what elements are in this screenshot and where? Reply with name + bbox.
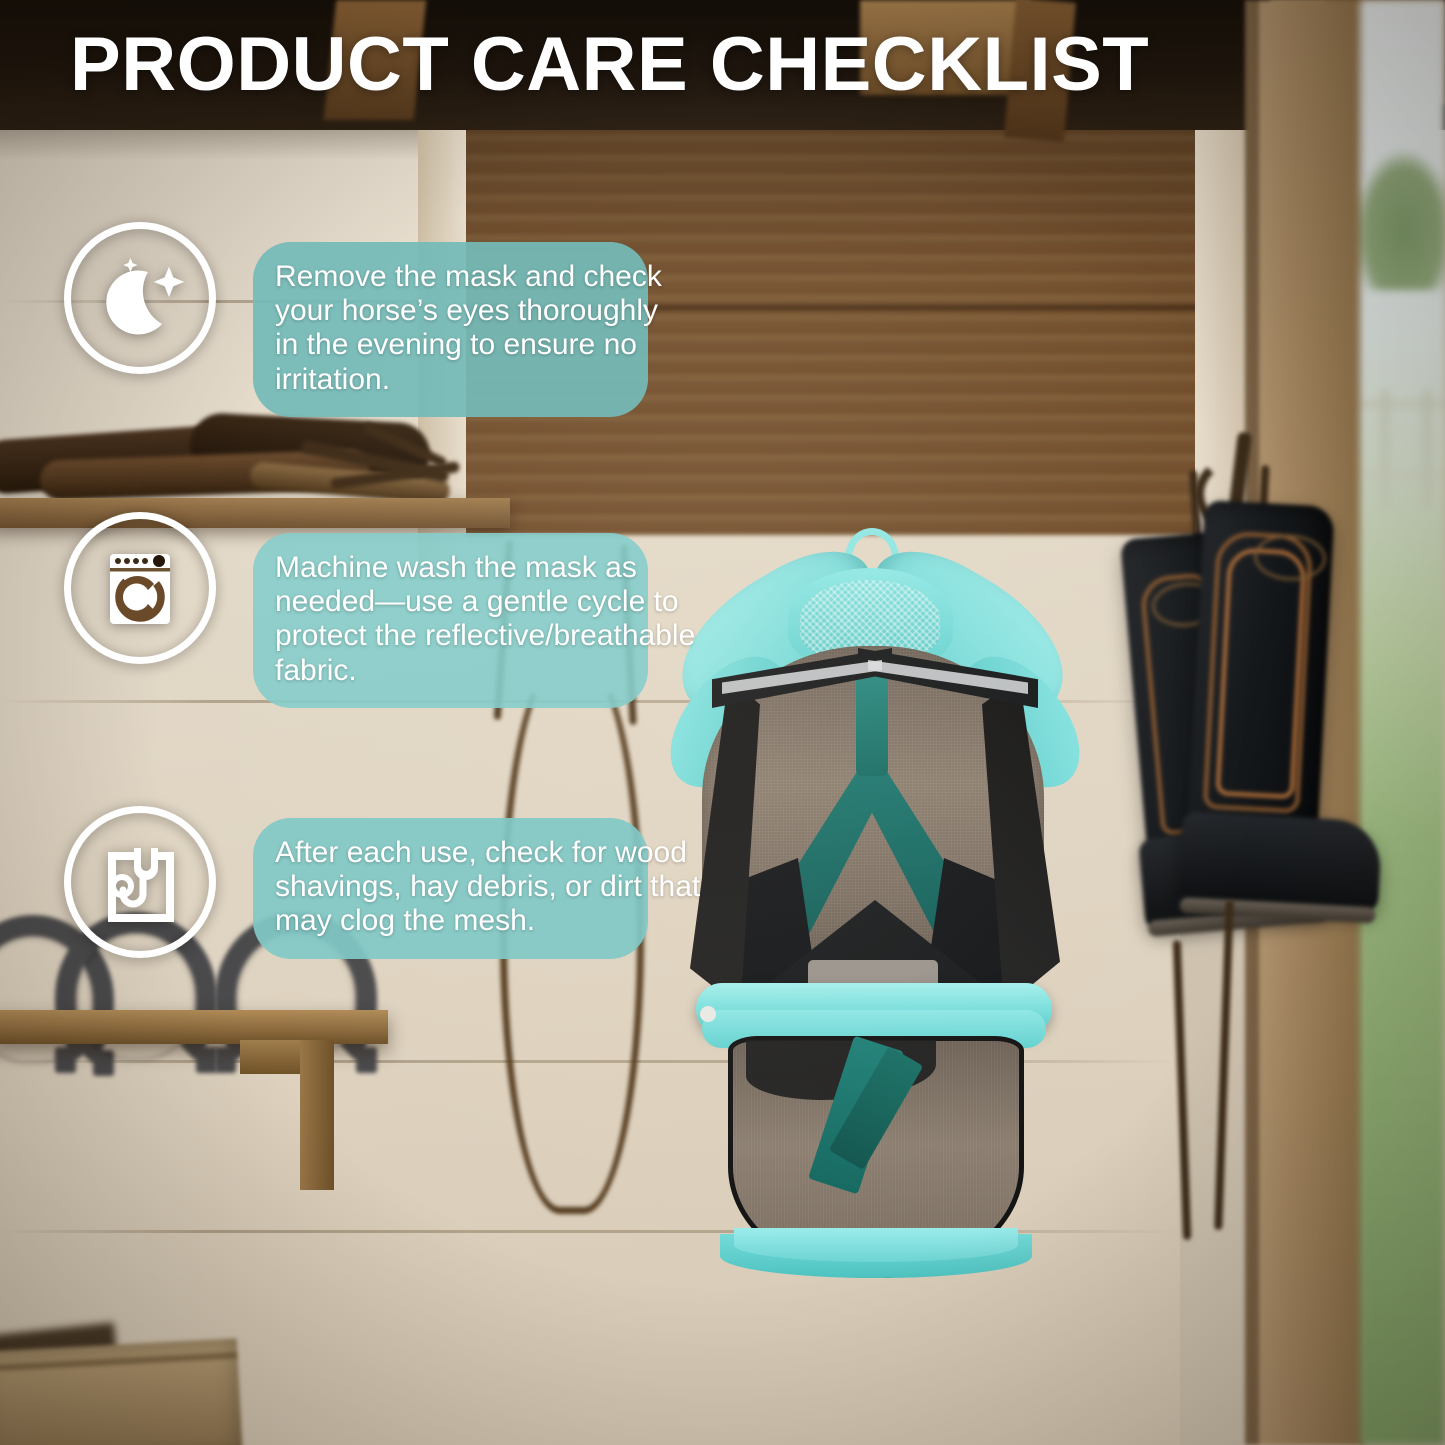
bubble-3-line-3: may clog the mesh. (275, 904, 626, 938)
shelf-bracket (300, 1040, 334, 1190)
fence-rail (1360, 400, 1445, 409)
infographic-canvas: PRODUCT CARE CHECKLIST Remove the mask a… (0, 0, 1445, 1445)
horseshoe-shelf (0, 1010, 388, 1044)
moon-stars-icon (64, 222, 216, 374)
bubble-2-line-2: needed—use a gentle cycle to (275, 585, 626, 619)
wooden-crate (0, 1338, 243, 1445)
boot-strap-trailing (1214, 900, 1234, 1230)
clipboard-stethoscope-icon (64, 806, 216, 958)
checklist-item-1 (64, 222, 216, 374)
checklist-bubble-3: After each use, check for wood shavings,… (253, 818, 648, 959)
bubble-3-line-1: After each use, check for wood (275, 836, 626, 870)
bubble-1-line-1: Remove the mask and check (275, 260, 626, 294)
bubble-2-line-1: Machine wash the mask as (275, 551, 626, 585)
fence-rail (1360, 470, 1445, 479)
checklist-item-2 (64, 512, 216, 664)
horse-fly-mask-product (660, 528, 1090, 1288)
mask-zipper-pull (700, 1006, 716, 1022)
bubble-2-line-4: fabric. (275, 654, 626, 688)
bubble-1-line-2: your horse’s eyes thoroughly (275, 294, 626, 328)
washing-machine-icon (64, 512, 216, 664)
checklist-bubble-2: Machine wash the mask as needed—use a ge… (253, 533, 648, 708)
fence-post (1380, 390, 1390, 510)
open-doorway-view (1360, 0, 1445, 1445)
checklist-item-3 (64, 806, 216, 958)
fence-post (1422, 390, 1432, 510)
tree (1360, 150, 1445, 290)
barn-background-photo (0, 0, 1445, 1445)
bubble-2-line-3: protect the reflective/breathable (275, 619, 626, 653)
bubble-1-line-4: irritation. (275, 363, 626, 397)
bubble-3-line-2: shavings, hay debris, or dirt that (275, 870, 626, 904)
mask-nose-trim-inner (734, 1228, 1018, 1262)
checklist-bubble-1: Remove the mask and check your horse’s e… (253, 242, 648, 417)
bubble-1-line-3: in the evening to ensure no (275, 328, 626, 362)
page-title: PRODUCT CARE CHECKLIST (70, 27, 1390, 103)
